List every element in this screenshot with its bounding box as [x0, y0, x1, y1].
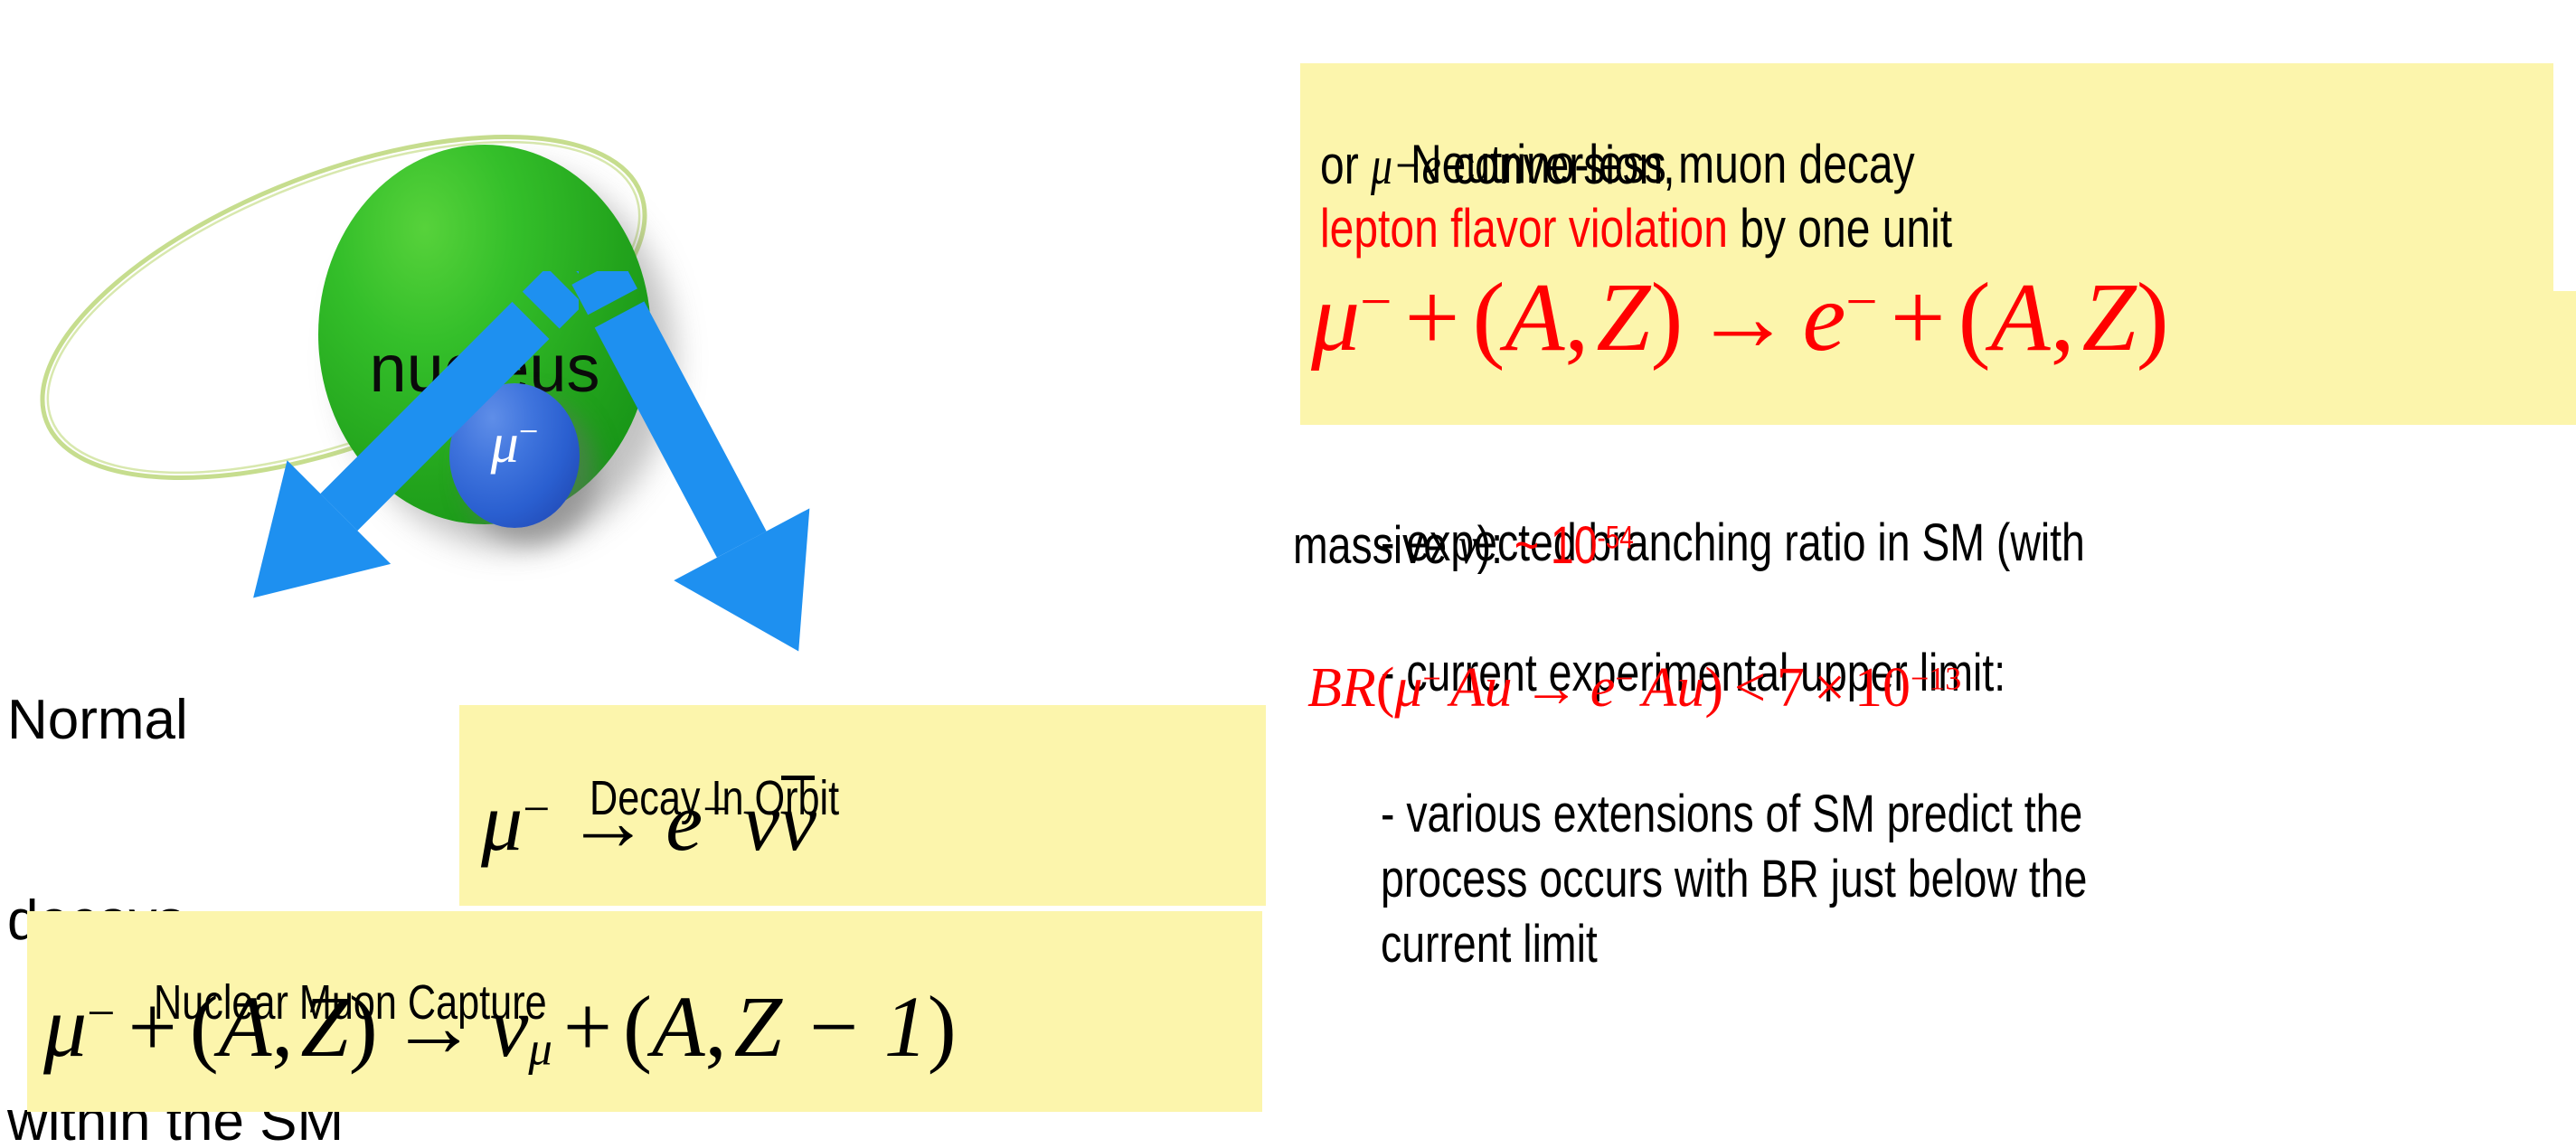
e-symbol: e: [1422, 136, 1441, 195]
br-value-10e-54: ~ 10: [1514, 516, 1598, 575]
bullet-expected-br-line-2: massive ν): ~ 10-54: [1293, 515, 1719, 576]
decay-in-orbit-box: Decay In Orbit μ−→e−νν: [459, 705, 1266, 906]
right-panel: Beyond the SM: Neutrino-less muon decay …: [1266, 0, 2576, 1148]
dio-arrow-glyph: →: [550, 776, 665, 868]
nmc-arrow-glyph: →: [378, 978, 490, 1075]
nuclear-muon-capture-box: Nuclear Muon Capture μ−+(A,Z)→νμ+(A,Z − …: [27, 911, 1262, 1112]
bullet-extensions-line-3: current limit: [1293, 853, 1651, 1035]
muon-nucleus-diagram: nucleus μ− Normal: [0, 0, 1266, 1148]
decay-in-orbit-equation: μ−→e−νν: [481, 774, 816, 870]
br-exponent-54: -54: [1598, 520, 1634, 555]
neutrino-symbol: ν: [1458, 516, 1477, 575]
nuclear-muon-capture-equation: μ−+(A,Z)→νμ+(A,Z − 1): [43, 976, 957, 1077]
bsm-line-2: or μ−e conversion,: [1320, 134, 1764, 197]
br-upper-limit-equation: BR(μ−Au→e−Au)<7×10−13: [1307, 656, 1961, 720]
minus-symbol: −: [1392, 136, 1421, 195]
br-limit-exponent: −13: [1911, 660, 1961, 696]
bsm-line-3: lepton flavor violation by one unit: [1320, 197, 2110, 259]
lepton-flavor-violation-text: lepton flavor violation: [1320, 198, 1728, 259]
mu-symbol: μ: [1371, 136, 1392, 195]
antineutrino-overline: ν: [779, 774, 816, 870]
br-arrow-glyph: →: [1513, 657, 1590, 719]
mu-e-conversion-equation: μ−+(A,Z)→e−+(A,Z): [1311, 262, 2169, 374]
conversion-arrow-glyph: →: [1683, 264, 1802, 372]
decay-arrow-right: [506, 271, 922, 741]
slide-canvas: nucleus μ− Normal: [0, 0, 2576, 1148]
normal-decays-line-1: Normal: [7, 687, 344, 754]
